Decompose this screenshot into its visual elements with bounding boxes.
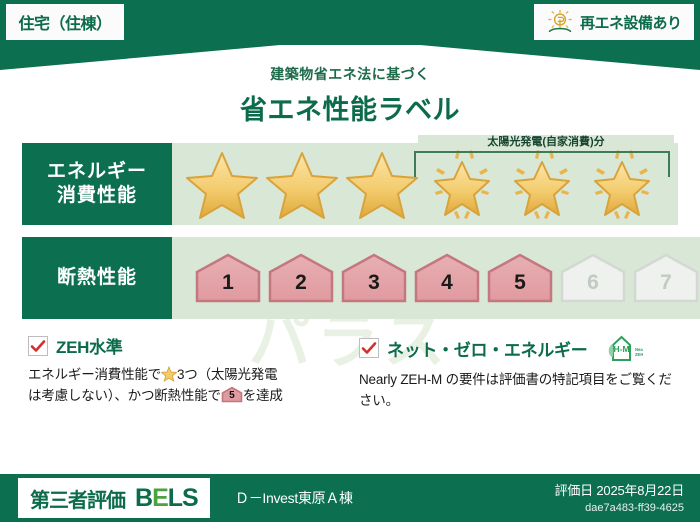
star-filled-1: [184, 148, 260, 220]
checkbox-checked-icon: [28, 336, 48, 356]
insulation-label-text: 断熱性能: [57, 266, 137, 290]
insulation-level-3: 3: [340, 252, 408, 304]
insulation-level-5: 5: [486, 252, 554, 304]
title-block: 建築物省エネ法に基づく 省エネ性能ラベル: [22, 40, 678, 127]
insulation-level-3-value: 3: [340, 252, 408, 304]
insulation-level-7: 7: [632, 252, 700, 304]
insulation-level-6: 6: [559, 252, 627, 304]
insulation-scale: 1 2: [172, 237, 700, 319]
note-zeh-star-count: 3つ（太陽光発電: [177, 367, 277, 382]
insulation-level-6-value: 6: [559, 252, 627, 304]
star-filled-3: [344, 148, 420, 220]
footer: 第三者評価 BELS Ｄ－Invest東原Ａ棟 評価日 2025年8月22日 d…: [0, 474, 700, 522]
bels-letter-ls: LS: [168, 484, 198, 512]
insulation-level-2: 2: [267, 252, 335, 304]
insulation-level-1-value: 1: [194, 252, 262, 304]
bels-jp-label: 第三者評価: [30, 484, 125, 513]
insulation-level-5-value: 5: [486, 252, 554, 304]
note-zeh-standard-head: ZEH水準: [28, 333, 341, 358]
notes-section: ZEH水準 エネルギー消費性能で3つ（太陽光発電は考慮しない）、かつ断熱性能で5…: [22, 333, 678, 412]
note-net-zero-head: ネット・ゼロ・エネルギー H-M Nearly ZEH-M: [359, 333, 672, 363]
rating-rows: エネルギー 消費性能 太陽光発電(自家消費)分: [22, 143, 678, 319]
insulation-level-7-value: 7: [632, 252, 700, 304]
title-subtitle: 建築物省エネ法に基づく: [22, 64, 678, 84]
note-zeh-mid: は考慮しない）、かつ断熱性能で: [28, 388, 221, 403]
note-net-zero-title: ネット・ゼロ・エネルギー: [387, 336, 587, 361]
inline-house-badge-value: 5: [221, 386, 243, 403]
solar-bracket-label: 太陽光発電(自家消費)分: [418, 135, 674, 149]
bels-letter-e: E: [152, 484, 168, 512]
page-title: 省エネ性能ラベル: [22, 88, 678, 127]
energy-label-line2: 消費性能: [57, 184, 137, 208]
evaluation-date: 評価日 2025年8月22日: [555, 480, 684, 499]
note-zeh-standard: ZEH水準 エネルギー消費性能で3つ（太陽光発電は考慮しない）、かつ断熱性能で5…: [28, 333, 341, 412]
nearly-zeh-m-logo-icon: H-M Nearly ZEH-M: [599, 333, 643, 363]
inline-star-icon: [161, 366, 177, 382]
tab-renewable-equipment[interactable]: 再エネ設備あり: [534, 4, 694, 40]
sun-energy-icon: [546, 9, 574, 35]
tab-building-type[interactable]: 住宅（住棟）: [6, 4, 124, 40]
svg-text:ZEH-M: ZEH-M: [635, 352, 643, 357]
checkbox-checked-icon-2: [359, 338, 379, 358]
insulation-level-1: 1: [194, 252, 262, 304]
insulation-performance-row: 断熱性能: [22, 237, 678, 319]
building-name: Ｄ－Invest東原Ａ棟: [235, 488, 353, 508]
note-net-zero-body: Nearly ZEH-M の要件は評価書の特記項目をご覧ください。: [359, 370, 672, 412]
document-id: dae7a483-ff39-4625: [555, 502, 684, 514]
solar-bracket: [414, 151, 670, 177]
label-root: 住宅（住棟） 再エネ設備あり パラス 建築物省エネ法に: [0, 0, 700, 522]
insulation-level-4: 4: [413, 252, 481, 304]
insulation-performance-label: 断熱性能: [22, 237, 172, 319]
insulation-performance-body: 1 2: [172, 237, 700, 319]
tab-renewable-equipment-label: 再エネ設備あり: [580, 12, 682, 33]
note-zeh-suffix: を達成: [243, 388, 283, 403]
bels-logo: BELS: [135, 484, 198, 513]
note-net-zero-energy: ネット・ゼロ・エネルギー H-M Nearly ZEH-M Nearly ZEH…: [359, 333, 672, 412]
note-zeh-prefix: エネルギー消費性能で: [28, 367, 161, 382]
bels-badge: 第三者評価 BELS: [18, 478, 210, 518]
footer-meta: 評価日 2025年8月22日 dae7a483-ff39-4625: [555, 480, 684, 514]
insulation-level-4-value: 4: [413, 252, 481, 304]
energy-performance-label: エネルギー 消費性能: [22, 143, 172, 225]
inline-house-badge-icon: 5: [221, 386, 243, 403]
note-zeh-standard-body: エネルギー消費性能で3つ（太陽光発電は考慮しない）、かつ断熱性能で5を達成: [28, 365, 341, 407]
label-card: パラス 建築物省エネ法に基づく 省エネ性能ラベル エネルギー 消費性能 太陽光発…: [0, 40, 700, 474]
energy-performance-body: 太陽光発電(自家消費)分: [172, 143, 678, 225]
energy-performance-row: エネルギー 消費性能 太陽光発電(自家消費)分: [22, 143, 678, 225]
insulation-level-2-value: 2: [267, 252, 335, 304]
star-filled-2: [264, 148, 340, 220]
svg-text:H-M: H-M: [614, 344, 630, 354]
note-zeh-standard-title: ZEH水準: [56, 333, 123, 358]
bels-letter-b: B: [135, 484, 152, 512]
energy-label-line1: エネルギー: [47, 160, 147, 184]
tab-building-type-label: 住宅（住棟）: [18, 10, 111, 34]
